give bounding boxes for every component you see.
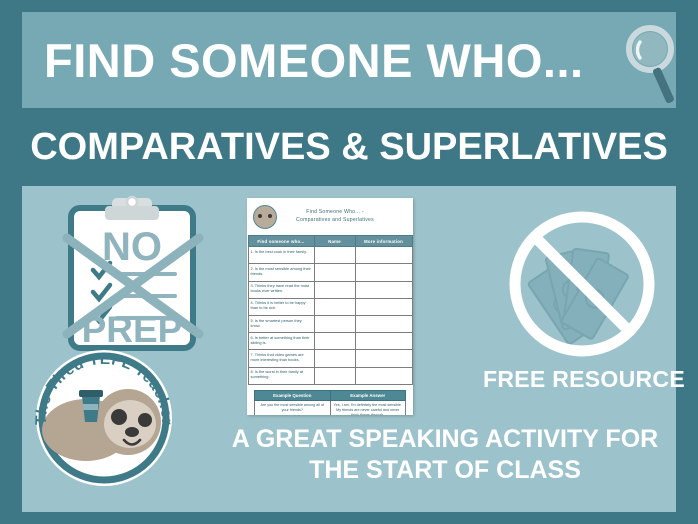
magnifier-icon — [616, 22, 686, 108]
column-header-name: Name — [314, 236, 355, 247]
table-row: 1. Is the best cook in their family. — [248, 247, 412, 264]
table-row: 5. Is the smartest person they know. — [248, 315, 412, 332]
row-question: 1. Is the best cook in their family. — [248, 247, 314, 264]
tired-tefl-teacher-logo: The Tired TEFL Teacher — [24, 338, 184, 498]
row-question: 4. Thinks it is better to be happy than … — [248, 298, 314, 315]
free-resource-label: FREE RESOURCE — [469, 366, 698, 393]
title-band-secondary: COMPARATIVES & SUPERLATIVES — [0, 116, 698, 178]
table-row: 4. Thinks it is better to be happy than … — [248, 298, 412, 315]
row-info-cell[interactable] — [355, 281, 412, 298]
row-question: 5. Is the smartest person they know. — [248, 315, 314, 332]
table-row: 3. Thinks they have read the most books … — [248, 281, 412, 298]
table-row: 8. Is the worst in their family at somet… — [248, 367, 412, 384]
worksheet-title-line2: Comparatives and Superlatives — [277, 217, 393, 225]
sloth-avatar-icon — [253, 205, 277, 229]
worksheet-title: Find Someone Who... - Comparatives and S… — [277, 209, 407, 224]
column-header-info: More information — [355, 236, 412, 247]
row-info-cell[interactable] — [355, 350, 412, 367]
row-info-cell[interactable] — [355, 315, 412, 332]
column-header-question: Find someone who... — [248, 236, 314, 247]
row-info-cell[interactable] — [355, 264, 412, 281]
row-name-cell[interactable] — [314, 350, 355, 367]
table-header-row: Find someone who... Name More informatio… — [248, 236, 412, 247]
row-name-cell[interactable] — [314, 315, 355, 332]
row-name-cell[interactable] — [314, 247, 355, 264]
worksheet-table: Find someone who... Name More informatio… — [248, 235, 413, 385]
tagline: A GREAT SPEAKING ACTIVITY FOR THE START … — [207, 424, 683, 485]
row-name-cell[interactable] — [314, 298, 355, 315]
example-header-row: Example Question Example Answer — [255, 390, 406, 401]
row-name-cell[interactable] — [314, 264, 355, 281]
title-band-primary: FIND SOMEONE WHO... — [22, 12, 676, 108]
worksheet-example-table: Example Question Example Answer Are you … — [254, 390, 406, 415]
example-answer-text: Yes, I am. I'm definitely the most sensi… — [330, 401, 406, 415]
example-question-text: Are you the most sensible among all of y… — [255, 401, 331, 415]
page-subtitle: COMPARATIVES & SUPERLATIVES — [30, 128, 668, 166]
row-question: 6. Is better at something than their sib… — [248, 333, 314, 350]
row-name-cell[interactable] — [314, 333, 355, 350]
row-question: 8. Is the worst in their family at somet… — [248, 367, 314, 384]
worksheet-header: Find Someone Who... - Comparatives and S… — [247, 198, 413, 233]
row-question: 3. Thinks they have read the most books … — [248, 281, 314, 298]
row-question: 7. Thinks that video games are more inte… — [248, 350, 314, 367]
row-info-cell[interactable] — [355, 247, 412, 264]
table-row: 2. Is the most sensible among their frie… — [248, 264, 412, 281]
page-title: FIND SOMEONE WHO... — [22, 37, 584, 84]
row-info-cell[interactable] — [355, 367, 412, 384]
row-name-cell[interactable] — [314, 281, 355, 298]
worksheet-preview[interactable]: Find Someone Who... - Comparatives and S… — [247, 198, 413, 415]
row-name-cell[interactable] — [314, 367, 355, 384]
table-row: 7. Thinks that video games are more inte… — [248, 350, 412, 367]
row-info-cell[interactable] — [355, 298, 412, 315]
example-question-header: Example Question — [255, 390, 331, 401]
example-answer-header: Example Answer — [330, 390, 406, 401]
worksheet-title-line1: Find Someone Who... - — [277, 209, 393, 217]
row-question: 2. Is the most sensible among their frie… — [248, 264, 314, 281]
content-panel: NO PREP — [22, 186, 676, 512]
no-money-icon — [492, 204, 672, 364]
example-row: Are you the most sensible among all of y… — [255, 401, 406, 415]
no-prep-clipboard-icon: NO PREP — [57, 194, 207, 354]
row-info-cell[interactable] — [355, 333, 412, 350]
table-row: 6. Is better at something than their sib… — [248, 333, 412, 350]
poster-root: FIND SOMEONE WHO... COMPARATIVES & SUPER… — [0, 0, 698, 524]
